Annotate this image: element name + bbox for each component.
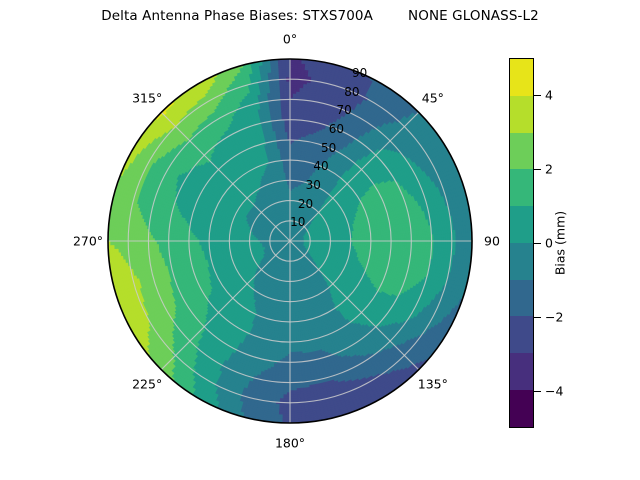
radial-tick-80: 80 xyxy=(344,85,359,99)
radial-tick-40: 40 xyxy=(313,159,328,173)
colorbar-band-4 xyxy=(510,243,533,280)
colorbar-tick-label-1: 2 xyxy=(545,162,553,177)
colorbar-tick-mark-4 xyxy=(534,391,541,392)
plot-title: Delta Antenna Phase Biases: STXS700A NON… xyxy=(0,8,640,24)
colorbar-tick-label-0: 4 xyxy=(545,88,553,103)
colorbar-band-3 xyxy=(510,280,533,317)
colorbar-band-0 xyxy=(510,390,533,427)
colorbar-band-2 xyxy=(510,316,533,353)
polar-contour-plot xyxy=(108,59,472,423)
radial-tick-60: 60 xyxy=(329,122,344,136)
colorbar-band-8 xyxy=(510,96,533,133)
colorbar-band-9 xyxy=(510,59,533,96)
colorbar-band-6 xyxy=(510,169,533,206)
colorbar[interactable] xyxy=(509,58,534,428)
colorbar-band-7 xyxy=(510,133,533,170)
colorbar-tick-mark-3 xyxy=(534,317,541,318)
azimuth-tick-90: 90 xyxy=(484,234,500,249)
colorbar-band-5 xyxy=(510,206,533,243)
colorbar-tick-label-3: −2 xyxy=(545,310,563,325)
colorbar-band-1 xyxy=(510,353,533,390)
azimuth-tick-315: 315° xyxy=(132,91,162,106)
azimuth-tick-45: 45° xyxy=(422,91,444,106)
polar-axes: 0°45°90135°180°225°270°315° 102030405060… xyxy=(108,59,472,423)
azimuth-tick-0: 0° xyxy=(283,32,297,47)
polar-grid-layer xyxy=(108,59,472,423)
azimuth-tick-270: 270° xyxy=(73,234,103,249)
colorbar-tick-mark-2 xyxy=(534,243,541,244)
radial-tick-70: 70 xyxy=(337,103,352,117)
radial-tick-30: 30 xyxy=(306,178,321,192)
figure-canvas: Delta Antenna Phase Biases: STXS700A NON… xyxy=(0,0,640,480)
radial-tick-20: 20 xyxy=(298,197,313,211)
colorbar-tick-label-4: −4 xyxy=(545,384,563,399)
azimuth-tick-135: 135° xyxy=(418,376,448,391)
radial-tick-90: 90 xyxy=(352,66,367,80)
radial-tick-10: 10 xyxy=(290,215,305,229)
azimuth-tick-225: 225° xyxy=(132,376,162,391)
colorbar-label: Bias (mm) xyxy=(553,211,568,275)
colorbar-tick-mark-1 xyxy=(534,169,541,170)
radial-tick-50: 50 xyxy=(321,141,336,155)
azimuth-tick-180: 180° xyxy=(275,436,305,451)
colorbar-tick-mark-0 xyxy=(534,95,541,96)
